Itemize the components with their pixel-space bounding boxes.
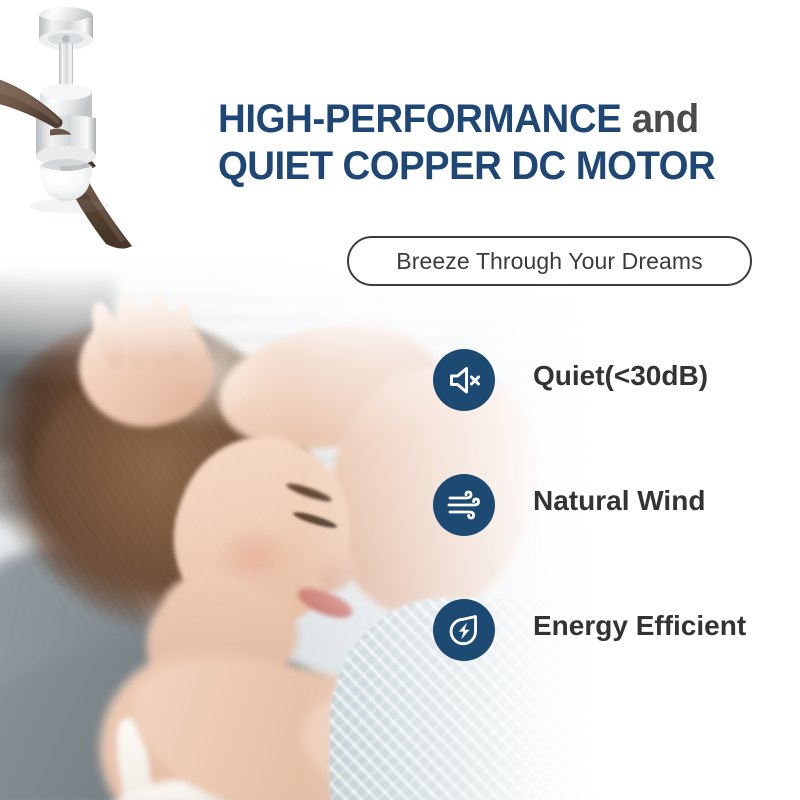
feature-item-natural-wind: Natural Wind <box>433 474 793 599</box>
fan-canopy-screw <box>62 35 70 43</box>
headline: HIGH-PERFORMANCE and QUIET COPPER DC MOT… <box>218 96 765 190</box>
fan-globe-highlight <box>45 171 71 185</box>
fan-shadow <box>30 199 110 213</box>
headline-line-1-main: HIGH-PERFORMANCE <box>218 97 621 141</box>
tagline-text: Breeze Through Your Dreams <box>396 248 702 275</box>
feature-item-energy-efficient: Energy Efficient <box>433 599 793 724</box>
feature-icon-badge-natural-wind <box>433 474 495 536</box>
feature-label-energy-efficient: Energy Efficient <box>533 610 746 642</box>
leaf-bolt-icon <box>445 611 483 649</box>
headline-line-1-conjunction: and <box>621 97 698 141</box>
wind-icon <box>445 486 483 524</box>
fan-motor-top <box>40 84 92 100</box>
tagline-pill: Breeze Through Your Dreams <box>347 236 752 286</box>
feature-item-quiet: Quiet(<30dB) <box>433 349 793 474</box>
feature-label-quiet: Quiet(<30dB) <box>533 360 708 392</box>
feature-icon-badge-energy-efficient <box>433 599 495 661</box>
feature-label-natural-wind: Natural Wind <box>533 485 705 517</box>
headline-line-2: QUIET COPPER DC MOTOR <box>218 143 765 190</box>
headline-line-1: HIGH-PERFORMANCE and <box>218 96 765 143</box>
speaker-mute-icon <box>445 361 483 399</box>
product-feature-banner: HIGH-PERFORMANCE and QUIET COPPER DC MOT… <box>0 0 800 800</box>
feature-icon-badge-quiet <box>433 349 495 411</box>
feature-list: Quiet(<30dB) Natural Wind <box>433 349 793 724</box>
